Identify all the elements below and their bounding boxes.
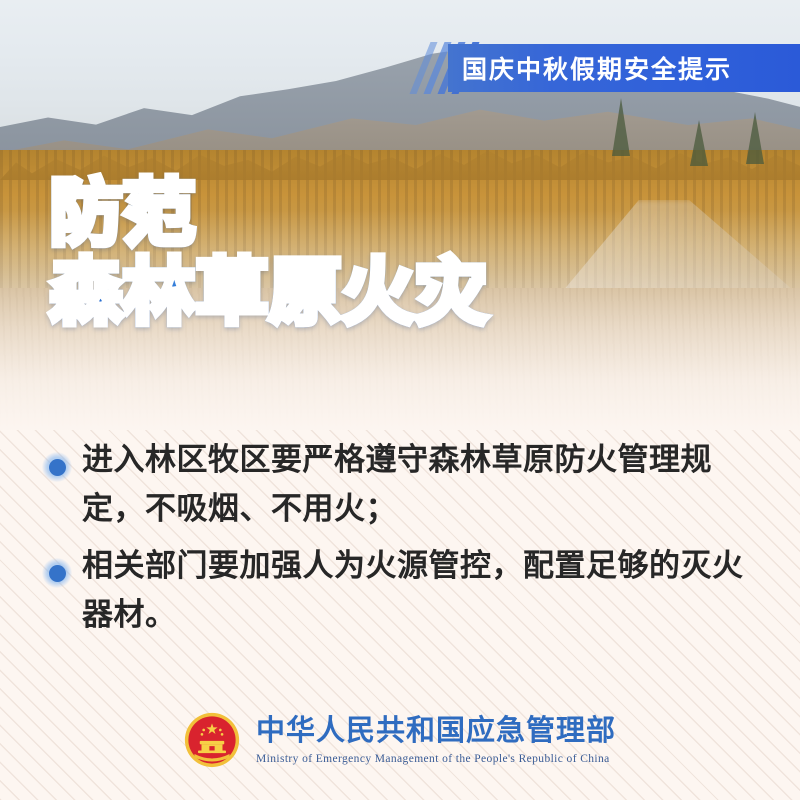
ribbon-bar: 国庆中秋假期安全提示 [448,44,800,92]
tip-text: 进入林区牧区要严格遵守森林草原防火管理规定，不吸烟、不用火； [82,436,768,534]
title-line-2: 森林草原火灾 [50,257,610,330]
tip-text: 相关部门要加强人为火源管控，配置足够的灭火器材。 [82,542,768,640]
ribbon-label: 国庆中秋假期安全提示 [448,50,732,86]
page-title: 防范 森林草原火灾 [50,178,610,331]
header-ribbon: 国庆中秋假期安全提示 [0,44,800,92]
list-item: 相关部门要加强人为火源管控，配置足够的灭火器材。 [42,542,768,640]
ministry-name-en: Ministry of Emergency Management of the … [256,753,610,765]
conifer-tree-icon [690,120,708,166]
national-emblem-icon [184,712,240,768]
conifer-tree-icon [746,112,764,164]
blue-dot-bullet-icon [42,452,72,482]
list-item: 进入林区牧区要严格遵守森林草原防火管理规定，不吸烟、不用火； [42,436,768,534]
safety-poster: 国庆中秋假期安全提示 防范 森林草原火灾 进入林区牧区要严格遵守森林草原防火管理… [0,0,800,800]
ministry-name-block: 中华人民共和国应急管理部 Ministry of Emergency Manag… [256,715,616,764]
ministry-name-cn: 中华人民共和国应急管理部 [256,715,616,747]
tips-list: 进入林区牧区要严格遵守森林草原防火管理规定，不吸烟、不用火； 相关部门要加强人为… [42,436,768,648]
footer-branding: 中华人民共和国应急管理部 Ministry of Emergency Manag… [0,712,800,768]
title-line-1: 防范 [50,178,610,251]
conifer-tree-icon [612,98,630,156]
blue-dot-bullet-icon [42,558,72,588]
